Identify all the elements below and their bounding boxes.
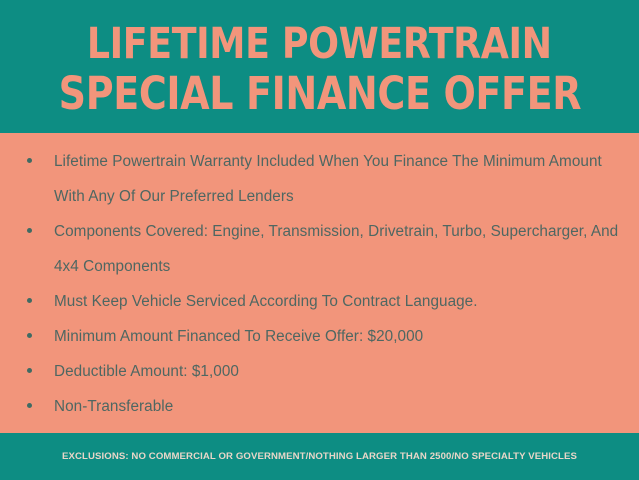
- list-item: Lifetime Powertrain Warranty Included Wh…: [18, 144, 621, 214]
- flyer-header: LIFETIME POWERTRAIN SPECIAL FINANCE OFFE…: [0, 0, 639, 133]
- page-title-line-2: SPECIAL FINANCE OFFER: [58, 69, 581, 119]
- exclusions-disclaimer: EXCLUSIONS: NO COMMERCIAL OR GOVERNMENT/…: [62, 451, 577, 462]
- bullet-dot-icon: [27, 158, 32, 163]
- offer-bullet-list: Lifetime Powertrain Warranty Included Wh…: [18, 144, 621, 424]
- list-item: Non-Transferable: [18, 389, 621, 424]
- list-item-label: Minimum Amount Financed To Receive Offer…: [54, 319, 621, 354]
- bullet-dot-icon: [27, 403, 32, 408]
- list-item-label: Non-Transferable: [54, 389, 621, 424]
- bullet-dot-icon: [27, 228, 32, 233]
- page-title-line-1: LIFETIME POWERTRAIN: [87, 19, 552, 69]
- list-item: Deductible Amount: $1,000: [18, 354, 621, 389]
- flyer-footer: EXCLUSIONS: NO COMMERCIAL OR GOVERNMENT/…: [0, 433, 639, 480]
- list-item-label: Components Covered: Engine, Transmission…: [54, 214, 621, 284]
- bullet-dot-icon: [27, 368, 32, 373]
- list-item-label: Lifetime Powertrain Warranty Included Wh…: [54, 144, 621, 214]
- list-item-label: Must Keep Vehicle Serviced According To …: [54, 284, 621, 319]
- list-item: Components Covered: Engine, Transmission…: [18, 214, 621, 284]
- offer-flyer: LIFETIME POWERTRAIN SPECIAL FINANCE OFFE…: [0, 0, 639, 480]
- list-item: Minimum Amount Financed To Receive Offer…: [18, 319, 621, 354]
- offer-details-panel: Lifetime Powertrain Warranty Included Wh…: [0, 133, 639, 433]
- bullet-dot-icon: [27, 298, 32, 303]
- list-item-label: Deductible Amount: $1,000: [54, 354, 621, 389]
- list-item: Must Keep Vehicle Serviced According To …: [18, 284, 621, 319]
- bullet-dot-icon: [27, 333, 32, 338]
